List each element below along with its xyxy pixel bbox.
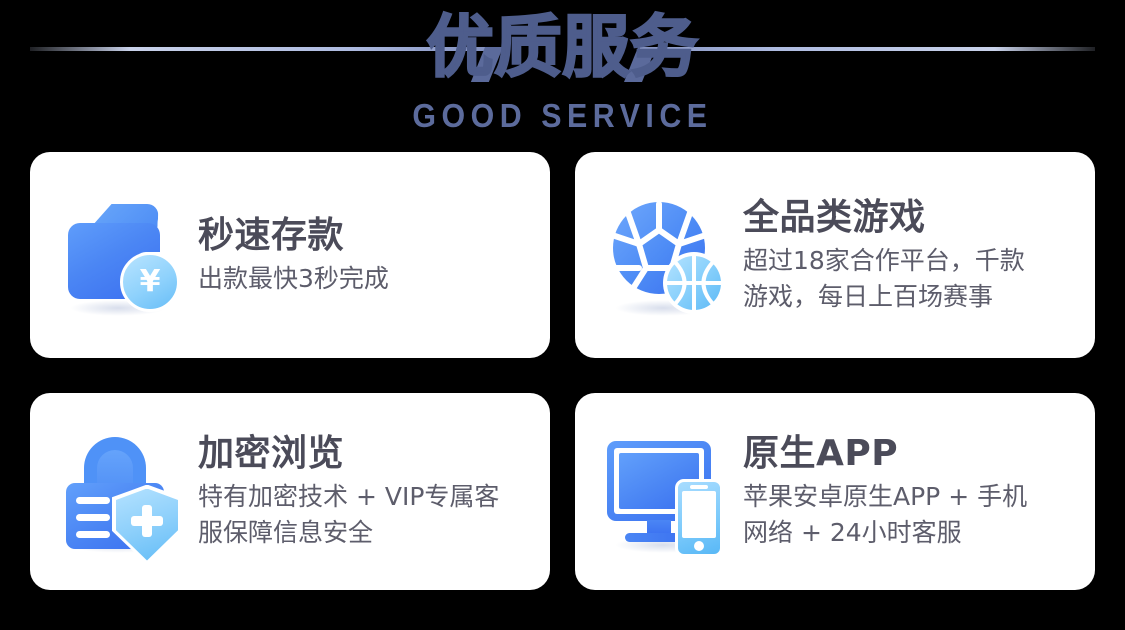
monitor-icon [601, 427, 731, 557]
card-subtitle: 出款最快3秒完成 [198, 261, 550, 297]
feature-card-deposit[interactable]: ¥ 秒速存款 出款最快3秒完成 [30, 152, 550, 358]
feature-card-grid: ¥ 秒速存款 出款最快3秒完成 [30, 152, 1095, 590]
card-text-native-app: 原生APP 苹果安卓原生APP + 手机 网络 + 24小时客服 [743, 432, 1095, 551]
page-title: 优质服务 [0, 6, 1125, 88]
lock-slot [76, 514, 110, 521]
feature-card-encryption[interactable]: 加密浏览 特有加密技术 + VIP专属客 服保障信息安全 [30, 393, 550, 590]
card-subtitle: 超过18家合作平台，千款 游戏，每日上百场赛事 [743, 243, 1095, 315]
card-title: 全品类游戏 [743, 196, 1095, 240]
card-subtitle-line: 超过18家合作平台，千款 [743, 243, 1095, 279]
plus-icon-horizontal [131, 516, 163, 526]
yen-coin-icon: ¥ [120, 252, 180, 312]
card-subtitle: 苹果安卓原生APP + 手机 网络 + 24小时客服 [743, 479, 1095, 551]
feature-card-native-app[interactable]: 原生APP 苹果安卓原生APP + 手机 网络 + 24小时客服 [575, 393, 1095, 590]
card-text-encryption: 加密浏览 特有加密技术 + VIP专属客 服保障信息安全 [198, 432, 550, 551]
card-title: 加密浏览 [198, 432, 550, 476]
card-subtitle-line: 游戏，每日上百场赛事 [743, 279, 1095, 315]
yen-symbol: ¥ [140, 267, 161, 297]
lock-slot [76, 497, 110, 504]
card-subtitle-line: 特有加密技术 + VIP专属客 [198, 479, 550, 515]
card-title: 原生APP [743, 432, 1095, 476]
card-subtitle-line: 服保障信息安全 [198, 515, 550, 551]
phone-speaker [690, 485, 708, 489]
page-subtitle: GOOD SERVICE [45, 97, 1080, 135]
card-title: 秒速存款 [198, 214, 550, 258]
card-text-deposit: 秒速存款 出款最快3秒完成 [198, 214, 550, 297]
card-subtitle-line: 苹果安卓原生APP + 手机 [743, 479, 1095, 515]
feature-card-games[interactable]: 全品类游戏 超过18家合作平台，千款 游戏，每日上百场赛事 [575, 152, 1095, 358]
card-text-games: 全品类游戏 超过18家合作平台，千款 游戏，每日上百场赛事 [743, 196, 1095, 315]
card-subtitle-line: 出款最快3秒完成 [198, 261, 550, 297]
card-subtitle: 特有加密技术 + VIP专属客 服保障信息安全 [198, 479, 550, 551]
card-subtitle-line: 网络 + 24小时客服 [743, 515, 1095, 551]
wallet-icon: ¥ [56, 190, 186, 320]
phone-screen [682, 491, 716, 538]
page-header: 优质服务 GOOD SERVICE [0, 0, 1125, 145]
ball-graphic [607, 198, 729, 316]
soccer-ball-icon [601, 190, 731, 320]
padlock-icon [56, 427, 186, 557]
lock-slot [76, 531, 110, 538]
phone-home-button [694, 541, 704, 551]
